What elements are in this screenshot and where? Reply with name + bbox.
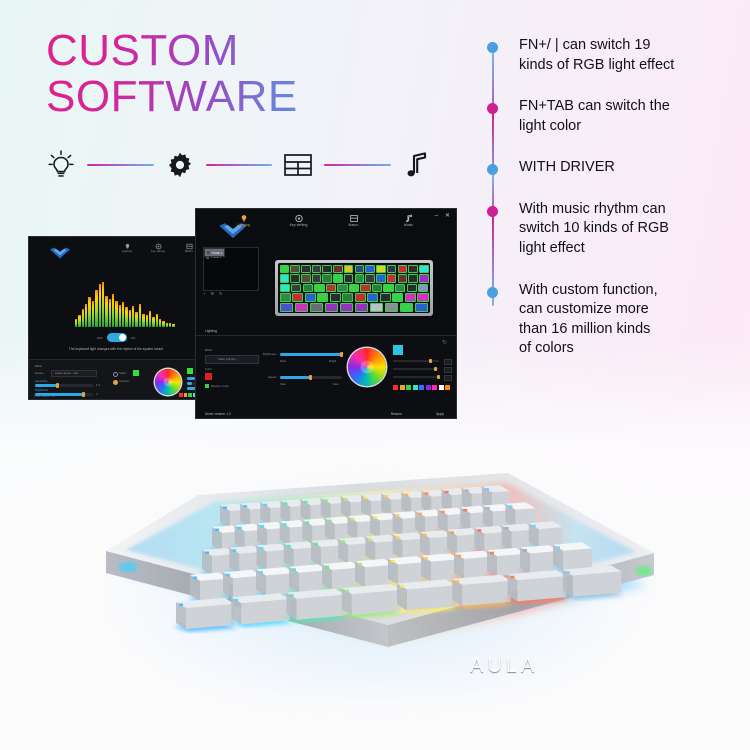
keyboard-key[interactable] — [349, 284, 359, 292]
keyboard-key[interactable] — [312, 274, 322, 282]
profile-list[interactable]: Profile 1 Profile 2 Profile 3 — [203, 247, 259, 291]
keycap-legend — [259, 571, 263, 574]
keyboard-key[interactable] — [310, 303, 324, 311]
keycap-legend — [179, 604, 183, 607]
color-preview — [393, 345, 403, 355]
keycap-legend — [226, 574, 230, 577]
toolbar-item-key-setting[interactable]: Key setting — [284, 214, 314, 227]
random-color-label: Random Color — [211, 384, 229, 388]
aula-logo-icon — [49, 246, 71, 259]
radio-static-label: Static — [119, 371, 126, 375]
rgb-value-r[interactable] — [444, 359, 452, 365]
color-wheel[interactable] — [348, 348, 386, 386]
brightness-value: 4 — [96, 392, 98, 396]
keycap-front — [352, 590, 401, 615]
music-settings-pane: Effect Device Audio device - soft Sensit… — [29, 359, 203, 400]
rgb-slider-r[interactable] — [393, 360, 439, 362]
lighting-section-label: Lighting — [205, 329, 217, 333]
window-controls[interactable]: – ✕ — [435, 213, 450, 219]
color-swatch[interactable] — [393, 385, 398, 390]
keyboard-key[interactable] — [301, 265, 311, 273]
spectrum-bar — [152, 317, 154, 327]
bullet-dot — [487, 206, 498, 217]
spectrum-bar — [119, 305, 121, 328]
close-button[interactable]: ✕ — [445, 213, 450, 219]
marketing-page: CUSTOM SOFTWARE — [0, 0, 750, 750]
keycap-legend — [457, 555, 461, 558]
list-item: FN+/ | can switch 19 kinds of RGB light … — [487, 36, 739, 75]
keycap-legend — [566, 571, 570, 574]
spectrum-bar — [122, 302, 124, 327]
brightness-max-label: Bright — [329, 359, 336, 363]
keycap-legend — [328, 520, 332, 523]
driver-window-toolbar[interactable]: Lighting Key setting Macro Music — [229, 214, 424, 227]
keyboard-key[interactable] — [355, 303, 369, 311]
refresh-icon[interactable]: ↻ — [442, 340, 447, 346]
keycap-legend — [465, 489, 469, 492]
rgb-slider-b[interactable] — [393, 376, 439, 378]
keyboard-key[interactable] — [415, 303, 429, 311]
keycap-legend — [223, 507, 227, 510]
keyboard-key[interactable] — [372, 284, 382, 292]
toolbar-label: Lighting — [237, 224, 250, 227]
color-swatch[interactable] — [439, 385, 444, 390]
brightness-label: Brightness — [35, 388, 48, 392]
spectrum-bar — [166, 323, 168, 328]
spectrum-bar — [135, 312, 137, 327]
keyboard-key[interactable] — [290, 274, 300, 282]
keycap-legend — [423, 534, 427, 537]
keycap-legend — [215, 529, 219, 532]
toolbar-item-lighting[interactable]: Lighting — [229, 214, 259, 227]
feature-bullet-list: FN+/ | can switch 19 kinds of RGB light … — [487, 36, 739, 359]
keyboard-key[interactable] — [355, 293, 366, 301]
keyboard-key[interactable] — [305, 293, 316, 301]
toolbar-label: Lighting — [122, 251, 132, 254]
keyboard-key[interactable] — [365, 265, 375, 273]
bullet-text: WITH DRIVER — [519, 158, 739, 178]
toggle-switch[interactable] — [107, 333, 127, 342]
spectrum-bar — [125, 307, 127, 327]
keycap-legend — [384, 495, 388, 498]
toolbar-label: Key setting — [290, 224, 308, 227]
keyboard-key[interactable] — [344, 274, 354, 282]
keyboard-row — [280, 274, 429, 282]
color-swatch[interactable] — [184, 393, 188, 397]
keyboard-key[interactable] — [398, 265, 408, 273]
keyboard-key[interactable] — [290, 265, 300, 273]
keyboard-key[interactable] — [280, 274, 290, 282]
keyboard-key[interactable] — [419, 265, 429, 273]
spectrum-bar — [102, 282, 104, 327]
color-swatch-current[interactable] — [205, 373, 212, 380]
spectrum-bar — [169, 323, 171, 327]
keyboard-key[interactable] — [392, 293, 403, 301]
keyboard-key[interactable] — [333, 265, 343, 273]
keycap-legend — [532, 525, 536, 528]
keycap-legend — [344, 498, 348, 501]
spectrum-bar — [172, 324, 174, 327]
spectrum-bar — [115, 301, 117, 327]
keycap-legend — [292, 568, 296, 571]
color-palette[interactable] — [393, 385, 450, 390]
driver-software-window[interactable]: Lighting Key setting Macro Music – ✕ Pro… — [195, 208, 457, 419]
keycap-legend — [396, 536, 400, 539]
list-item[interactable]: Profile 1 — [204, 248, 225, 257]
keycap-legend — [283, 502, 287, 505]
keyboard-key[interactable] — [400, 303, 414, 311]
keyboard-key[interactable] — [322, 274, 332, 282]
keycap-legend — [463, 509, 467, 512]
spectrum-bar — [95, 290, 97, 327]
keyboard-key[interactable] — [344, 265, 354, 273]
keycap-legend — [290, 594, 294, 597]
keyboard-row — [280, 284, 429, 292]
keyboard-key[interactable] — [407, 284, 417, 292]
keycap-legend — [490, 552, 494, 555]
toolbar-item-music[interactable]: Music — [394, 214, 424, 227]
keycap-legend — [523, 549, 527, 552]
keycap-legend — [234, 599, 238, 602]
toolbar-label: Macro — [349, 224, 359, 227]
spectrum-bar — [78, 315, 80, 327]
radio-colorful-label: Colorful — [119, 379, 129, 383]
page-title: CUSTOM SOFTWARE — [46, 28, 376, 120]
keyboard-key[interactable] — [312, 265, 322, 273]
keycap-legend — [508, 505, 512, 508]
keyboard-key[interactable] — [330, 293, 341, 301]
keyboard-key[interactable] — [280, 303, 294, 311]
keyboard-layout-preview[interactable] — [275, 260, 433, 316]
connector-line-2 — [206, 164, 273, 166]
device-label: Device — [35, 371, 44, 375]
keyboard-key[interactable] — [322, 265, 332, 273]
keycap-legend — [314, 543, 318, 546]
keyboard-row — [280, 265, 429, 273]
color-preview — [187, 368, 193, 374]
keycap-front — [462, 581, 511, 606]
keyboard-key[interactable] — [380, 293, 391, 301]
brightness-min-label: Dark — [280, 359, 286, 363]
keyboard-key[interactable] — [355, 265, 365, 273]
profile-toolbar[interactable]: + ☰ ✎ — [203, 292, 222, 296]
rgb-value-b[interactable] — [444, 375, 452, 381]
keyboard-key[interactable] — [333, 274, 343, 282]
spectrum-bar — [129, 310, 131, 327]
keyboard-key[interactable] — [337, 284, 347, 292]
color-swatch[interactable] — [426, 385, 431, 390]
effect-label: Effect — [35, 364, 42, 368]
keyboard-key[interactable] — [295, 303, 309, 311]
keycap-front — [518, 576, 567, 601]
keycap-front — [297, 595, 346, 620]
keycap-legend — [486, 507, 490, 510]
keyboard-key[interactable] — [280, 284, 290, 292]
bullet-dot — [487, 42, 498, 53]
keycap-legend — [325, 566, 329, 569]
spectrum-bar — [85, 304, 87, 327]
lightbulb-icon — [44, 148, 78, 182]
radio-colorful[interactable] — [113, 380, 118, 385]
keycap-legend — [243, 505, 247, 508]
connector-line-3 — [324, 164, 391, 166]
toolbar-item-macro[interactable]: Macro — [339, 214, 369, 227]
bullet-dot — [487, 164, 498, 175]
profile-label: Profile 1 — [212, 251, 222, 255]
spectrum-bar — [88, 297, 90, 327]
speed-label: Speed — [268, 375, 276, 379]
keycap-legend — [368, 538, 372, 541]
list-item: FN+TAB can switch the light color — [487, 97, 739, 136]
restore-button[interactable]: Restore — [391, 412, 402, 416]
spectrum-bar — [132, 306, 134, 327]
keycap-legend — [477, 529, 481, 532]
spectrum-bar — [162, 321, 164, 327]
keycap-legend — [205, 552, 209, 555]
spectrum-bar — [75, 319, 77, 327]
keyboard-key[interactable] — [405, 293, 416, 301]
speed-min-label: Slow — [280, 382, 286, 386]
sensitivity-value: 1.0 — [96, 383, 100, 387]
color-swatch[interactable] — [179, 393, 183, 397]
keyboard-key[interactable] — [292, 293, 303, 301]
rgb-slider-g[interactable] — [393, 368, 439, 370]
keyboard-key[interactable] — [408, 274, 418, 282]
keycap-legend — [556, 546, 560, 549]
keycap-legend — [358, 563, 362, 566]
keyboard-key[interactable] — [340, 303, 354, 311]
keyboard-key[interactable] — [280, 265, 290, 273]
table-icon — [281, 148, 315, 182]
keyboard-key[interactable] — [325, 303, 339, 311]
sensitivity-label: Sensitivity — [35, 379, 48, 383]
keycap-legend — [373, 516, 377, 519]
brand-logo: AULA — [470, 655, 538, 678]
keycap-legend — [511, 576, 515, 579]
audio-spectrum-chart — [75, 282, 175, 327]
keycap-legend — [424, 492, 428, 495]
keycap-legend — [238, 527, 242, 530]
keycap-legend — [445, 491, 449, 494]
keycap-legend — [263, 504, 267, 507]
music-caption: The keyboard light changes with the rhyt… — [29, 347, 203, 351]
delete-profile-button[interactable]: ☰ — [210, 292, 214, 296]
color-swatch[interactable] — [406, 385, 411, 390]
connector-line-1 — [87, 164, 154, 166]
toggle-off-label: OFF — [97, 336, 103, 340]
keycap-legend — [283, 523, 287, 526]
keycap-legend — [455, 580, 459, 583]
keyboard-key[interactable] — [317, 293, 328, 301]
keyboard-row — [280, 293, 429, 301]
keyboard-key[interactable] — [385, 303, 399, 311]
keycap-legend — [259, 547, 263, 550]
keyboard-key[interactable] — [383, 284, 393, 292]
keyboard-key[interactable] — [280, 293, 291, 301]
effect-label: Effect — [205, 348, 212, 352]
color-swatch[interactable] — [188, 393, 192, 397]
keyboard-key[interactable] — [417, 293, 428, 301]
device-value: Audio device - soft — [55, 371, 78, 375]
toolbar-label: Macro — [185, 251, 193, 254]
keyboard-key[interactable] — [314, 284, 324, 292]
bullet-text: FN+/ | can switch 19 kinds of RGB light … — [519, 36, 739, 75]
keycap-legend — [193, 577, 197, 580]
music-software-window[interactable]: Lighting Key setting Macro OFF ON The ke… — [28, 236, 204, 400]
keycap-legend — [424, 557, 428, 560]
keyboard-key[interactable] — [418, 284, 428, 292]
music-mode-toggle[interactable]: OFF ON — [29, 333, 203, 342]
spectrum-bar — [82, 309, 84, 327]
keycap-front — [563, 548, 592, 570]
bullet-text: FN+TAB can switch the light color — [519, 97, 739, 136]
spectrum-bar — [149, 311, 151, 327]
keycap-legend — [350, 518, 354, 521]
spectrum-bar — [99, 284, 101, 327]
spectrum-bar — [156, 314, 158, 327]
keyboard-key[interactable] — [370, 303, 384, 311]
sensitivity-slider[interactable] — [35, 384, 93, 387]
keyboard-key[interactable] — [395, 284, 405, 292]
effect-value: Static Lighting — [218, 357, 236, 361]
feature-icon-strip — [44, 143, 434, 187]
color-label: Color — [205, 367, 212, 371]
color-swatch[interactable] — [445, 385, 450, 390]
keycap-legend — [287, 545, 291, 548]
minimize-button[interactable]: – — [435, 213, 438, 219]
keycap-legend — [400, 585, 404, 588]
toolbar-label: Key setting — [151, 251, 165, 254]
keycap-legend — [418, 512, 422, 515]
keycap-front — [241, 599, 290, 624]
keycap-legend — [505, 527, 509, 530]
color-wheel[interactable] — [155, 369, 181, 395]
bullet-dot — [487, 103, 498, 114]
gear-icon — [163, 148, 197, 182]
list-item: WITH DRIVER — [487, 158, 739, 178]
color-swatch[interactable] — [400, 385, 405, 390]
keyboard-row — [280, 303, 429, 311]
keycap-legend — [391, 560, 395, 563]
keyboard-key[interactable] — [365, 274, 375, 282]
keycap-legend — [232, 549, 236, 552]
keycap-legend — [485, 488, 489, 491]
bullet-text: With music rhythm can switch 10 kinds of… — [519, 200, 739, 259]
spectrum-bar — [142, 314, 144, 328]
toggle-on-label: ON — [131, 336, 136, 340]
speed-max-label: Fast — [333, 382, 338, 386]
color-swatch[interactable] — [432, 385, 437, 390]
bullet-text: With custom function, can customize more… — [519, 281, 739, 359]
keycap-legend — [404, 494, 408, 497]
apply-button[interactable]: Apply — [436, 412, 444, 416]
keyboard-key[interactable] — [326, 284, 336, 292]
spectrum-bar — [92, 301, 94, 327]
keyboard-key[interactable] — [376, 265, 386, 273]
list-item: With music rhythm can switch 10 kinds of… — [487, 200, 739, 259]
keyboard-key[interactable] — [367, 293, 378, 301]
keycap-legend — [441, 511, 445, 514]
bullet-dot — [487, 287, 498, 298]
keycap-legend — [396, 514, 400, 517]
add-profile-button[interactable]: + — [203, 292, 205, 296]
keycap-legend — [260, 525, 264, 528]
keyboard-key[interactable] — [355, 274, 365, 282]
color-swatch[interactable] — [413, 385, 418, 390]
keycap-legend — [304, 501, 308, 504]
keycap-legend — [345, 590, 349, 593]
keycap-legend — [341, 540, 345, 543]
brightness-slider[interactable] — [280, 353, 342, 356]
music-note-icon — [400, 148, 434, 182]
spectrum-bar — [105, 296, 107, 328]
spectrum-bar — [146, 315, 148, 327]
keyboard-key[interactable] — [387, 274, 397, 282]
toolbar-item-lighting[interactable]: Lighting — [117, 243, 137, 254]
keyboard-key[interactable] — [398, 274, 408, 282]
keyboard-key[interactable] — [303, 284, 313, 292]
keyboard-key[interactable] — [342, 293, 353, 301]
keyboard-key[interactable] — [376, 274, 386, 282]
keycap-front — [186, 604, 235, 629]
color-swatch-current[interactable] — [133, 370, 139, 376]
radio-static[interactable] — [113, 372, 118, 377]
keyboard-key[interactable] — [419, 274, 429, 282]
spectrum-bar — [159, 319, 161, 327]
keycap-front — [407, 585, 456, 610]
driver-status: Driver version: 1.0 — [205, 412, 231, 416]
rgb-value-g[interactable] — [444, 367, 452, 373]
keyboard-key[interactable] — [387, 265, 397, 273]
music-status: Driver version: 1.0 — [34, 395, 55, 398]
list-item: With custom function, can customize more… — [487, 281, 739, 359]
keyboard-render — [88, 455, 666, 655]
toolbar-label: Music — [404, 224, 413, 227]
random-color-checkbox[interactable] — [205, 384, 209, 388]
lighting-controls-pane: ↻ Effect Static Lighting Color Random Co… — [196, 335, 456, 419]
keycap-legend — [450, 531, 454, 534]
spectrum-bar — [112, 294, 114, 327]
keyboard-key[interactable] — [291, 284, 301, 292]
keycap-legend — [305, 521, 309, 524]
keyboard-key[interactable] — [408, 265, 418, 273]
keycap-legend — [324, 499, 328, 502]
color-swatch[interactable] — [419, 385, 424, 390]
music-window-toolbar[interactable]: Lighting Key setting Macro — [117, 243, 199, 254]
brightness-label: Brightness — [263, 352, 276, 356]
keycap-front — [573, 572, 622, 597]
keyboard-key[interactable] — [301, 274, 311, 282]
spectrum-bar — [139, 304, 141, 327]
speed-slider[interactable] — [280, 376, 342, 379]
keyboard-key[interactable] — [360, 284, 370, 292]
spectrum-bar — [109, 299, 111, 327]
edit-profile-button[interactable]: ✎ — [219, 292, 222, 296]
keycap-legend — [364, 497, 368, 500]
toolbar-item-key-setting[interactable]: Key setting — [148, 243, 168, 254]
